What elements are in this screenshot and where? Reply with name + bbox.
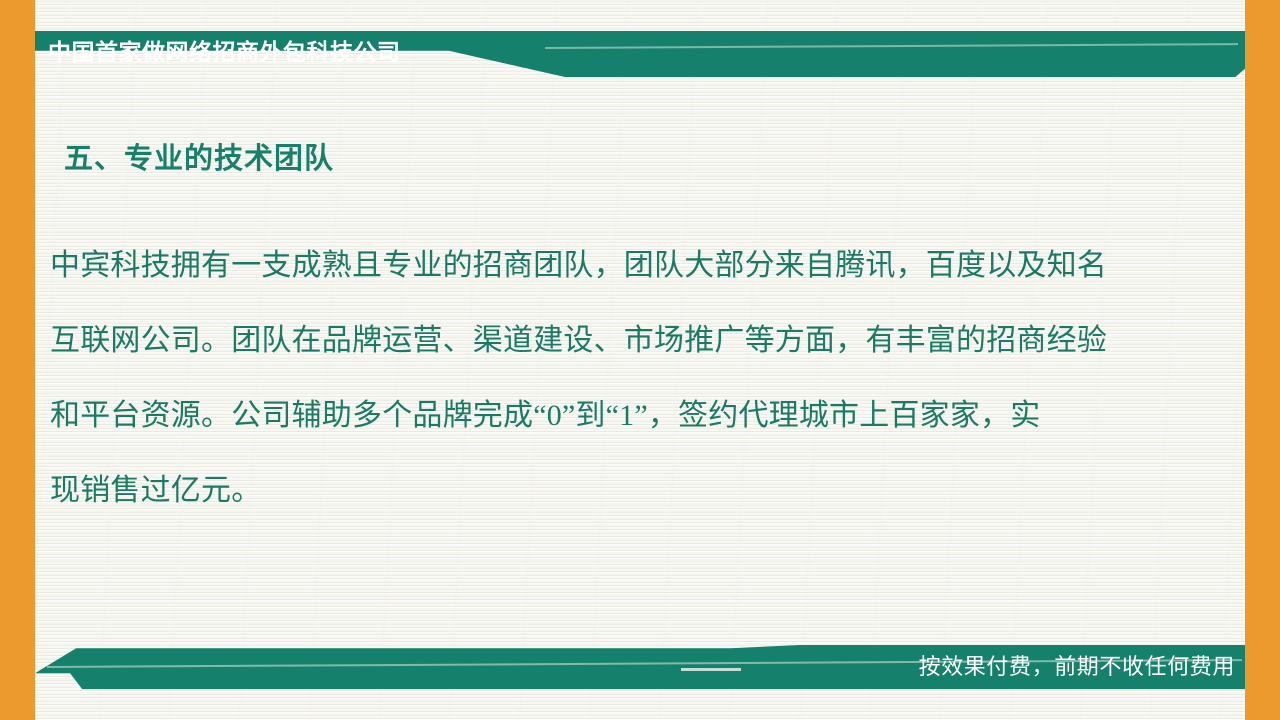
- slide-root: 中国首家做网络招商外包科技公司 五、专业的技术团队 中宾科技拥有一支成熟且专业的…: [0, 0, 1280, 720]
- section-heading: 五、专业的技术团队: [64, 135, 334, 177]
- body-paragraph: 中宾科技拥有一支成熟且专业的招商团队，团队大部分来自腾讯，百度以及知名 互联网公…: [50, 228, 1190, 528]
- body-line: 中宾科技拥有一支成熟且专业的招商团队，团队大部分来自腾讯，百度以及知名: [50, 228, 1190, 303]
- body-line: 现销售过亿元。: [50, 453, 1190, 528]
- footer-tagline: 按效果付费，前期不收任何费用: [919, 646, 1235, 688]
- body-line: 和平台资源。公司辅助多个品牌完成“0”到“1”，签约代理城市上百家家，实: [50, 378, 1190, 453]
- body-line: 互联网公司。团队在品牌运营、渠道建设、市场推广等方面，有丰富的招商经验: [50, 303, 1190, 378]
- footer-accent-dash: [681, 668, 741, 671]
- header-title: 中国首家做网络招商外包科技公司: [48, 33, 401, 71]
